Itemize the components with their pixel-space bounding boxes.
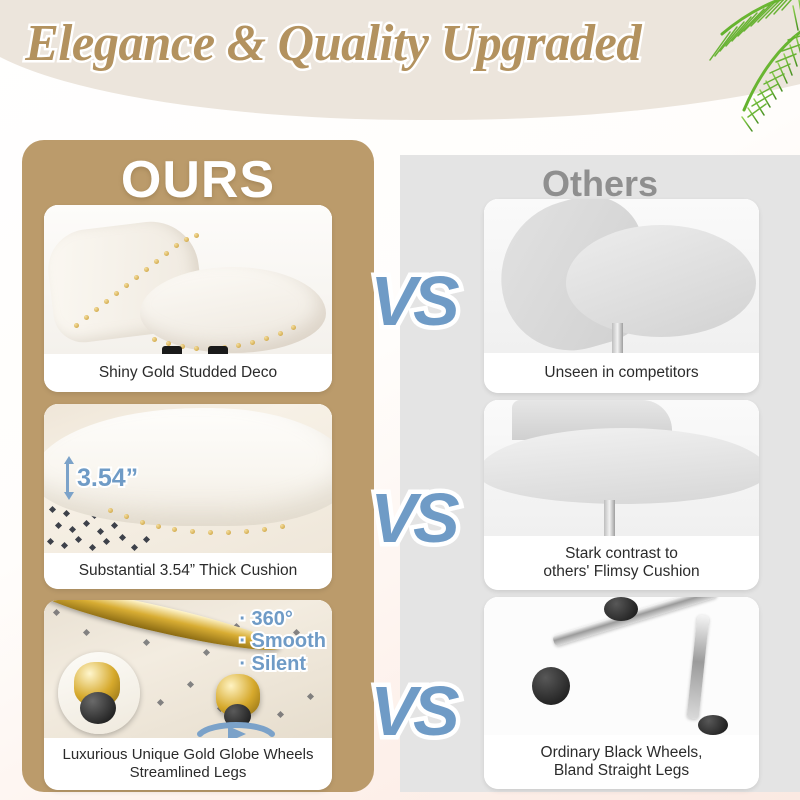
feature-bullets: · 360° · Smooth · Silent bbox=[239, 608, 326, 675]
ours-caption-1: Shiny Gold Studded Deco bbox=[44, 354, 332, 392]
others-caption-2-line1: Stark contrast to bbox=[565, 545, 678, 562]
others-card-2: Stark contrast to others' Flimsy Cushion bbox=[484, 400, 759, 590]
vs-badge-3: VS bbox=[358, 665, 468, 757]
bullet-smooth: · Smooth bbox=[239, 630, 326, 652]
others-card-3: Ordinary Black Wheels, Bland Straight Le… bbox=[484, 597, 759, 789]
ours-caption-3-line2: Streamlined Legs bbox=[130, 764, 247, 781]
others-caption-3: Ordinary Black Wheels, Bland Straight Le… bbox=[484, 735, 759, 789]
bullet-silent: · Silent bbox=[239, 653, 326, 675]
others-photo-plain-chair bbox=[484, 199, 759, 353]
bullet-360: · 360° bbox=[239, 608, 326, 630]
wheel-closeup-inset bbox=[58, 652, 140, 734]
competitor-post-2 bbox=[604, 500, 615, 536]
others-caption-2: Stark contrast to others' Flimsy Cushion bbox=[484, 536, 759, 590]
others-caption-3-line2: Bland Straight Legs bbox=[554, 762, 689, 779]
ours-photo-thick-cushion: 3.54” bbox=[44, 404, 332, 553]
ours-card-cushion: 3.54” Substantial 3.54” Thick Cushion bbox=[44, 404, 332, 589]
others-photo-black-wheels bbox=[484, 597, 759, 735]
ours-heading: OURS bbox=[22, 150, 374, 210]
others-photo-thin-cushion bbox=[484, 400, 759, 536]
ours-card-wheels: · 360° · Smooth · Silent Luxurious Uniqu… bbox=[44, 600, 332, 790]
gold-stud-row bbox=[44, 205, 332, 354]
others-caption-2-line2: others' Flimsy Cushion bbox=[543, 563, 699, 580]
competitor-thin-seat bbox=[484, 428, 759, 504]
ours-caption-2: Substantial 3.54” Thick Cushion bbox=[44, 553, 332, 589]
others-card-1: Unseen in competitors bbox=[484, 199, 759, 393]
double-arrow-icon bbox=[62, 456, 73, 500]
rotation-arrow-icon bbox=[194, 718, 280, 738]
measurement-value: 3.54” bbox=[77, 464, 138, 493]
ours-caption-3-line1: Luxurious Unique Gold Globe Wheels bbox=[63, 746, 314, 763]
page-title: Elegance & Quality Upgraded bbox=[0, 14, 708, 73]
chair-legs bbox=[162, 343, 254, 354]
vs-badge-1: VS bbox=[358, 255, 468, 347]
ours-photo-studded-chair bbox=[44, 205, 332, 354]
ours-photo-gold-wheels: · 360° · Smooth · Silent bbox=[44, 600, 332, 738]
vs-badge-2: VS bbox=[358, 472, 468, 564]
cushion-measurement: 3.54” bbox=[62, 456, 138, 500]
black-wheel-3 bbox=[698, 715, 728, 735]
others-caption-3-line1: Ordinary Black Wheels, bbox=[541, 744, 703, 761]
ours-card-studs: Shiny Gold Studded Deco bbox=[44, 205, 332, 392]
ours-caption-3: Luxurious Unique Gold Globe Wheels Strea… bbox=[44, 738, 332, 790]
black-wheel-2 bbox=[532, 667, 570, 705]
infographic-root: Elegance & Quality Upgraded bbox=[0, 0, 800, 800]
competitor-seat bbox=[566, 225, 756, 337]
competitor-post bbox=[612, 323, 623, 353]
others-caption-1: Unseen in competitors bbox=[484, 353, 759, 393]
black-wheel-1 bbox=[604, 597, 638, 621]
